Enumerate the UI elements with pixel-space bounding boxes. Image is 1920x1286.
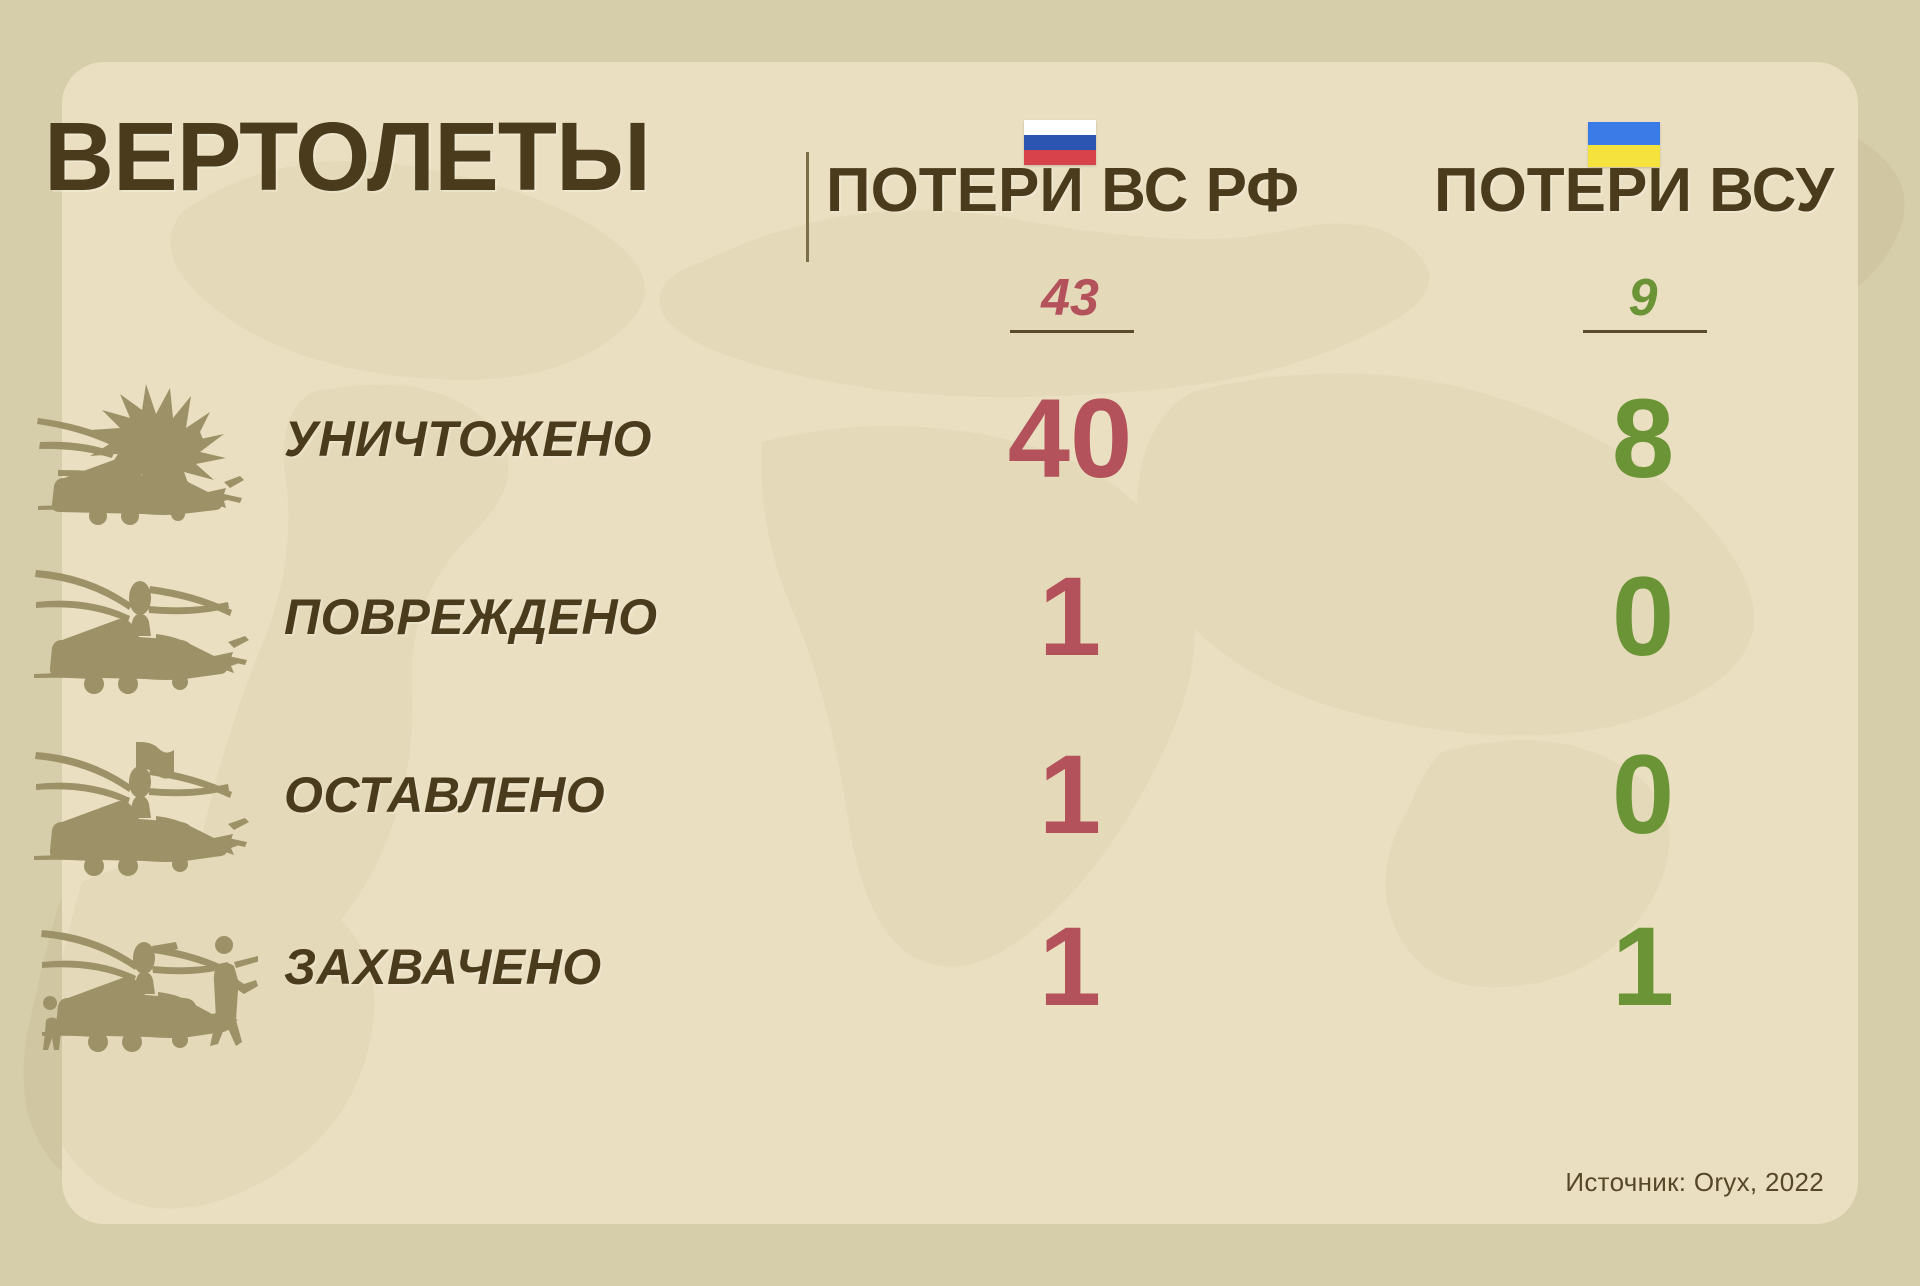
helicopter-damaged-icon xyxy=(28,556,258,704)
row-label: УНИЧТОЖЕНО xyxy=(284,410,652,468)
total-russia-underline xyxy=(1010,330,1134,333)
table-row: ОСТАВЛЕНО 1 0 xyxy=(0,734,1920,882)
infographic-poster: ВЕРТОЛЕТЫ ПОТЕРИ ВС РФ ПОТЕРИ ВСУ 43 9 xyxy=(0,0,1920,1286)
value-ukraine: 1 xyxy=(1528,900,1758,1034)
value-russia: 1 xyxy=(955,550,1185,684)
total-russia: 43 xyxy=(955,272,1185,324)
table-row: ЗАХВАЧЕНО 1 1 xyxy=(0,906,1920,1054)
row-label: ОСТАВЛЕНО xyxy=(284,766,605,824)
page-title: ВЕРТОЛЕТЫ xyxy=(44,108,650,205)
helicopter-abandoned-icon xyxy=(28,734,258,882)
total-ukraine-underline xyxy=(1583,330,1707,333)
value-russia: 1 xyxy=(955,728,1185,862)
row-label: ПОВРЕЖДЕНО xyxy=(284,588,657,646)
row-label: ЗАХВАЧЕНО xyxy=(284,938,602,996)
value-ukraine: 0 xyxy=(1528,728,1758,862)
header-divider xyxy=(806,152,809,262)
helicopter-captured-icon xyxy=(28,906,258,1054)
source-note: Источник: Oryx, 2022 xyxy=(1565,1167,1824,1198)
column-header-russia: ПОТЕРИ ВС РФ xyxy=(826,160,1299,222)
helicopter-destroyed-icon xyxy=(28,378,258,526)
table-row: УНИЧТОЖЕНО 40 8 xyxy=(0,378,1920,526)
value-ukraine: 8 xyxy=(1528,372,1758,506)
value-ukraine: 0 xyxy=(1528,550,1758,684)
total-ukraine: 9 xyxy=(1528,272,1758,324)
value-russia: 40 xyxy=(955,372,1185,506)
column-header-ukraine: ПОТЕРИ ВСУ xyxy=(1434,160,1834,222)
value-russia: 1 xyxy=(955,900,1185,1034)
table-row: ПОВРЕЖДЕНО 1 0 xyxy=(0,556,1920,704)
